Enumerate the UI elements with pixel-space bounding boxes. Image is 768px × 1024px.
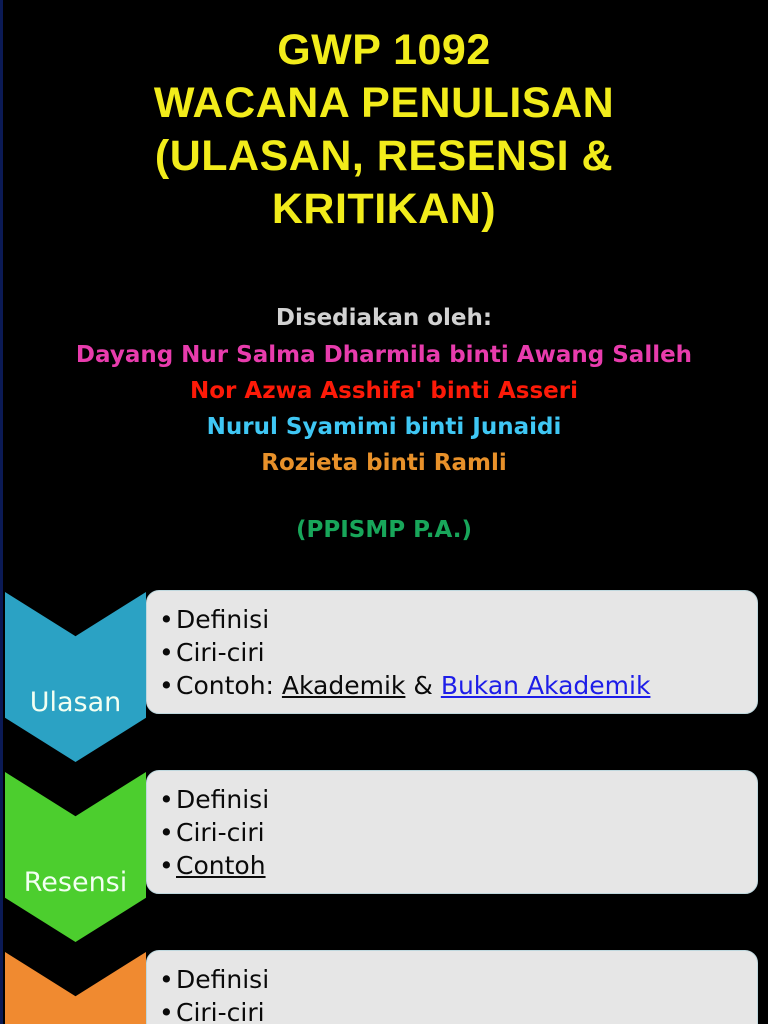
bullet-item: •Ciri-ciri: [159, 816, 757, 849]
link-akademik[interactable]: Akademik: [282, 671, 406, 700]
bullet-dot-icon: •: [159, 816, 176, 849]
bullet-text: Ciri-ciri: [176, 638, 265, 667]
chevron-label-resensi: Resensi: [24, 869, 128, 942]
bullet-item: •Contoh: Akademik & Bukan Akademik: [159, 669, 757, 702]
bullet-item: •Definisi: [159, 783, 757, 816]
content-card-third: •Definisi •Ciri-ciri: [146, 950, 758, 1024]
chevron-badge-third[interactable]: [5, 952, 146, 1024]
bullet-dot-icon: •: [159, 996, 176, 1024]
link-contoh[interactable]: Contoh: [176, 851, 266, 880]
chevron-badge-ulasan[interactable]: Ulasan: [5, 592, 146, 762]
bullet-text: Definisi: [176, 965, 269, 994]
chevron-badge-resensi[interactable]: Resensi: [5, 772, 146, 942]
bullet-text: Definisi: [176, 785, 269, 814]
chevron-label-ulasan: Ulasan: [30, 689, 122, 762]
bullet-item: •Definisi: [159, 963, 757, 996]
slide-left-edge-strip: [0, 0, 3, 1024]
bullet-item: •Contoh: [159, 849, 757, 882]
bullet-dot-icon: •: [159, 636, 176, 669]
bullet-item: •Ciri-ciri: [159, 996, 757, 1024]
bullet-text-separator: &: [405, 671, 440, 700]
link-bukan-akademik[interactable]: Bukan Akademik: [441, 671, 651, 700]
bullet-text: Ciri-ciri: [176, 998, 265, 1024]
bullet-dot-icon: •: [159, 783, 176, 816]
bullet-item: •Definisi: [159, 603, 757, 636]
bullet-dot-icon: •: [159, 963, 176, 996]
bullet-text: Definisi: [176, 605, 269, 634]
bullet-dot-icon: •: [159, 669, 176, 702]
content-card-ulasan: •Definisi •Ciri-ciri •Contoh: Akademik &…: [146, 590, 758, 714]
bullet-text-prefix: Contoh:: [176, 671, 282, 700]
content-card-resensi: •Definisi •Ciri-ciri •Contoh: [146, 770, 758, 894]
bullet-dot-icon: •: [159, 849, 176, 882]
bullet-dot-icon: •: [159, 603, 176, 636]
bullet-text: Ciri-ciri: [176, 818, 265, 847]
bullet-item: •Ciri-ciri: [159, 636, 757, 669]
content-rows: Ulasan •Definisi •Ciri-ciri •Contoh: Aka…: [0, 0, 768, 1024]
